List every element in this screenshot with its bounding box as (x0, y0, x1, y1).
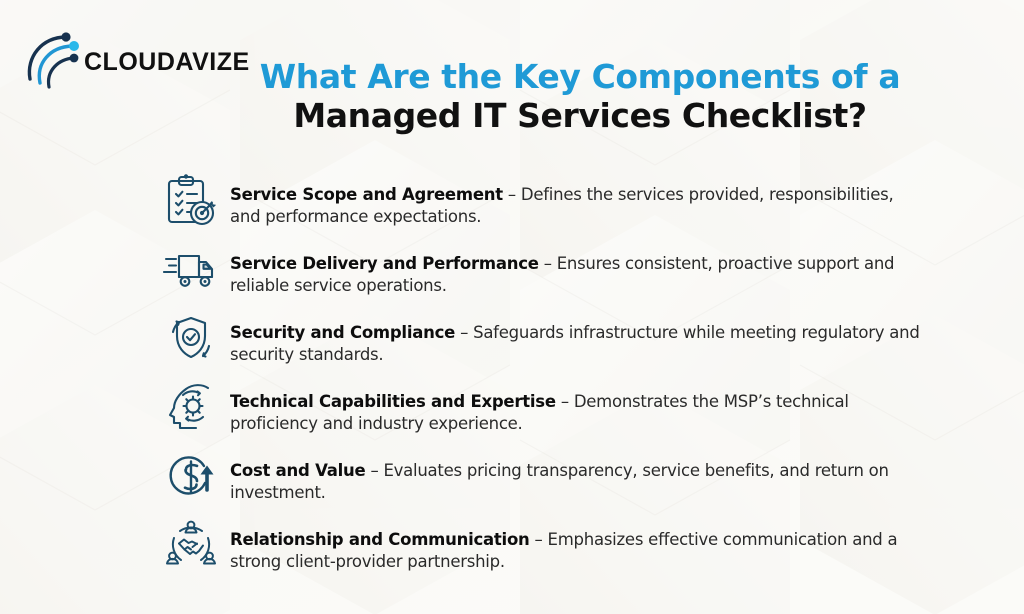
infographic-canvas: CLOUDAVIZE What Are the Key Components o… (0, 0, 1024, 614)
brand-logo[interactable]: CLOUDAVIZE (18, 22, 248, 102)
list-item-text: Security and Compliance – Safeguards inf… (230, 310, 920, 367)
page-title-line-2: Managed IT Services Checklist? (250, 97, 910, 136)
list-item: Service Scope and Agreement – Defines th… (160, 172, 920, 232)
delivery-truck-icon (160, 241, 222, 299)
list-item-title: Security and Compliance (230, 323, 455, 342)
list-item-separator: – (370, 461, 383, 480)
dollar-circle-arrow-up-icon (160, 448, 222, 506)
checklist-items: Service Scope and Agreement – Defines th… (160, 172, 920, 586)
list-item-text: Technical Capabilities and Expertise – D… (230, 379, 920, 436)
cloud-network-arcs-icon (18, 27, 88, 97)
list-item: Relationship and Communication – Emphasi… (160, 517, 920, 577)
list-item: Cost and Value – Evaluates pricing trans… (160, 448, 920, 508)
list-item-text: Service Scope and Agreement – Defines th… (230, 172, 920, 229)
list-item-separator: – (561, 392, 574, 411)
list-item: Service Delivery and Performance – Ensur… (160, 241, 920, 301)
list-item-separator: – (544, 254, 557, 273)
list-item-separator: – (460, 323, 473, 342)
brand-logo-text: CLOUDAVIZE (84, 48, 250, 77)
shield-check-refresh-icon (160, 310, 222, 368)
page-title-line-1: What Are the Key Components of a (250, 58, 910, 97)
list-item-title: Technical Capabilities and Expertise (230, 392, 556, 411)
list-item-text: Cost and Value – Evaluates pricing trans… (230, 448, 920, 505)
list-item-title: Service Scope and Agreement (230, 185, 503, 204)
list-item-text: Service Delivery and Performance – Ensur… (230, 241, 920, 298)
page-title: What Are the Key Components of a Managed… (250, 58, 910, 136)
list-item-separator: – (535, 530, 548, 549)
list-item-title: Service Delivery and Performance (230, 254, 539, 273)
list-item-title: Relationship and Communication (230, 530, 530, 549)
list-item: Technical Capabilities and Expertise – D… (160, 379, 920, 439)
list-item: Security and Compliance – Safeguards inf… (160, 310, 920, 370)
list-item-text: Relationship and Communication – Emphasi… (230, 517, 920, 574)
list-item-title: Cost and Value (230, 461, 365, 480)
handshake-network-icon (160, 517, 222, 575)
clipboard-checklist-target-icon (160, 172, 222, 230)
head-gear-icon (160, 379, 222, 437)
list-item-separator: – (508, 185, 521, 204)
